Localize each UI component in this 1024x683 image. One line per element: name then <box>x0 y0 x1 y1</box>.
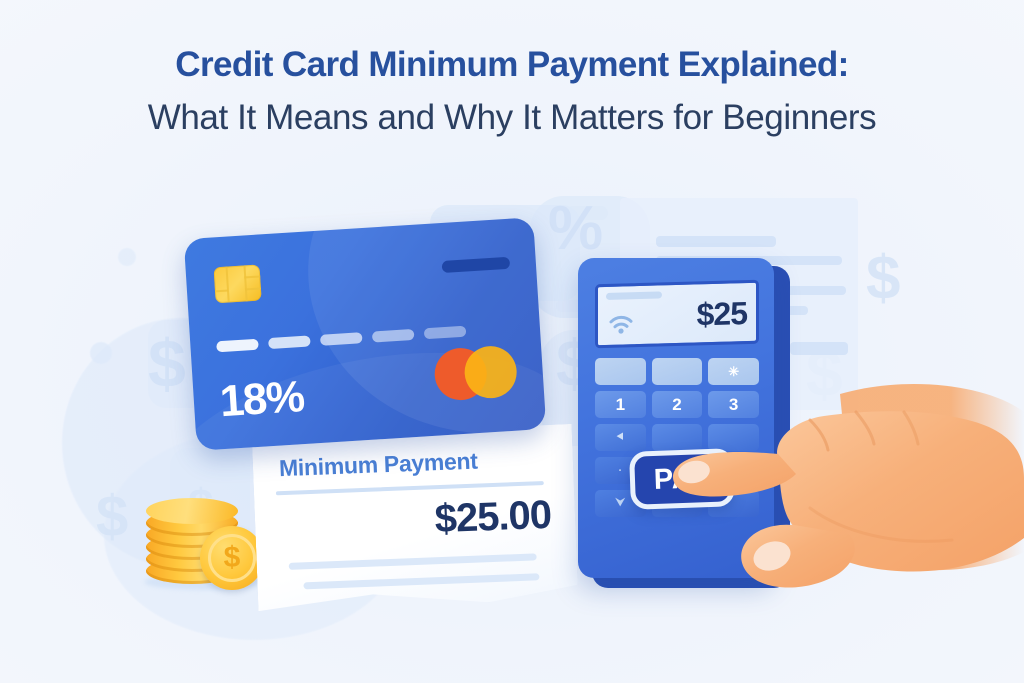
emv-chip-icon <box>214 264 262 303</box>
keypad-key-1[interactable]: 1 <box>595 391 646 418</box>
terminal-amount: $25 <box>697 295 747 333</box>
background-dollar-icon: $ <box>866 248 900 310</box>
page-title: Credit Card Minimum Payment Explained: W… <box>0 44 1024 141</box>
keypad-key[interactable] <box>595 358 646 385</box>
terminal-statusbar <box>606 291 662 300</box>
credit-card: 18% <box>184 217 547 451</box>
illustration-canvas: % $ $ $ $ $ $ $ Credit Card Minimum Paym… <box>0 0 1024 683</box>
card-face: 18% <box>184 217 547 451</box>
background-percent-icon: % <box>548 198 603 260</box>
contactless-icon <box>608 310 638 335</box>
receipt-amount: $25.00 <box>434 493 552 542</box>
title-line-2: What It Means and Why It Matters for Beg… <box>0 94 1024 141</box>
title-line-1: Credit Card Minimum Payment Explained: <box>0 44 1024 87</box>
mastercard-logo-icon <box>433 345 518 402</box>
dollar-icon: $ <box>208 534 256 582</box>
keypad-key[interactable]: ⯇ <box>595 424 646 451</box>
background-dollar-icon: $ <box>148 330 186 398</box>
receipt: Minimum Payment $25.00 <box>252 424 578 611</box>
background-dollar-icon: $ <box>96 488 128 546</box>
coin-front: $ <box>200 526 264 590</box>
hand-pressing-pay <box>660 368 1024 608</box>
card-interest-rate: 18% <box>218 372 305 427</box>
terminal-screen: $25 <box>595 280 759 349</box>
